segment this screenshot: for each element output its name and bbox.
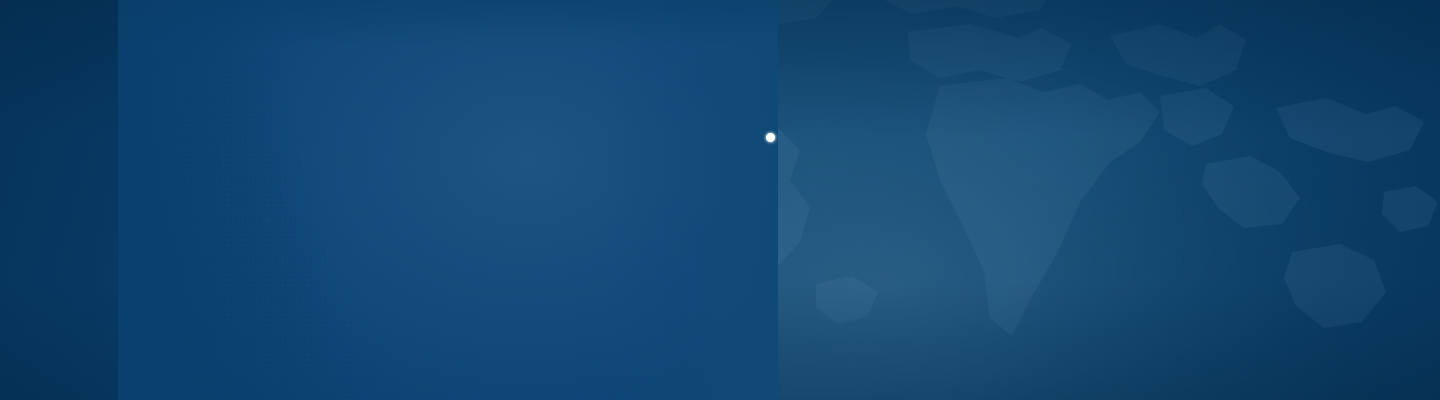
zirconia-beads-photo xyxy=(118,0,778,400)
bullet-dot-icon xyxy=(766,133,775,142)
hero-banner xyxy=(0,0,1440,400)
banner-copy xyxy=(760,104,1230,126)
photo-backdrop xyxy=(118,0,778,400)
